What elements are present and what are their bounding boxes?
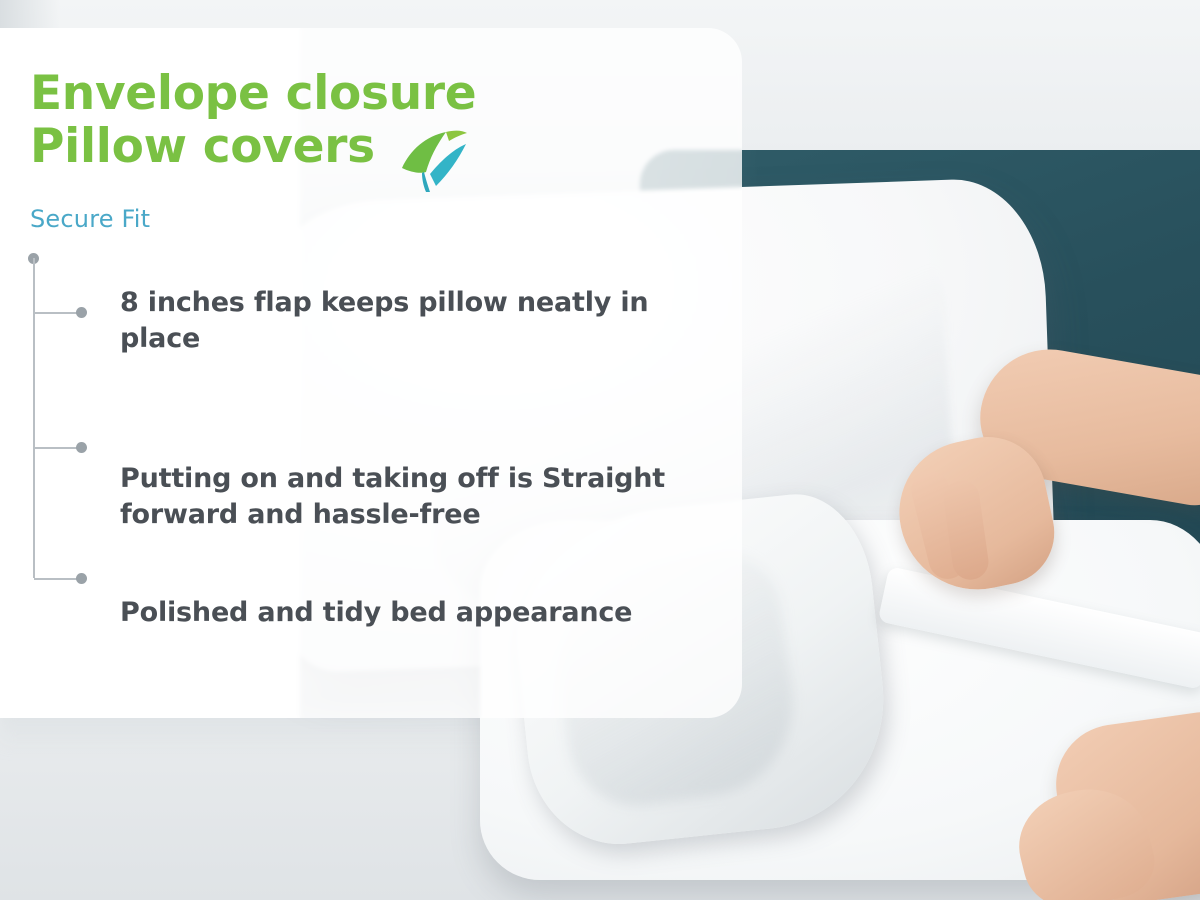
feature-item: Polished and tidy bed appearance	[120, 595, 632, 631]
branch-line-3	[34, 578, 80, 580]
marketing-copy: Envelope closure Pillow covers Secure Fi…	[0, 0, 760, 760]
feature-item: 8 inches flap keeps pillow neatly in pla…	[120, 285, 730, 357]
hummingbird-leaf-logo-icon	[396, 128, 468, 194]
branch-dot-2	[76, 442, 87, 453]
branch-line-1	[34, 312, 80, 314]
branch-dot-3	[76, 573, 87, 584]
subheadline: Secure Fit	[30, 205, 150, 233]
headline-line-1: Envelope closure	[30, 66, 476, 121]
rail-line	[33, 258, 35, 578]
headline: Envelope closure Pillow covers	[30, 68, 670, 173]
branch-dot-1	[76, 307, 87, 318]
feature-item: Putting on and taking off is Straight fo…	[120, 461, 730, 533]
branch-line-2	[34, 447, 80, 449]
headline-line-2: Pillow covers	[30, 121, 670, 174]
